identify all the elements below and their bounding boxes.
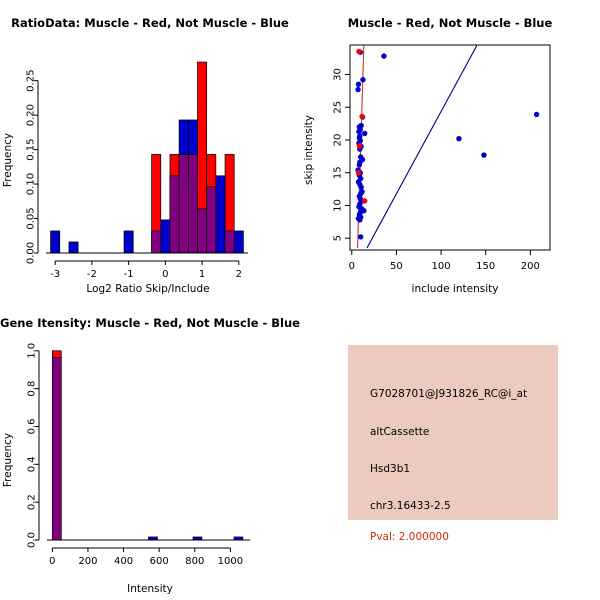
x-tick-label: 100 xyxy=(432,261,451,272)
histogram-bar-overlap xyxy=(225,231,234,253)
histogram-bar-not-muscle xyxy=(161,220,170,253)
y-tick-label: 0.6 xyxy=(27,419,38,435)
x-tick-label: 50 xyxy=(390,261,403,272)
histogram-bar-not-muscle xyxy=(69,242,78,253)
panel-scatter: Muscle - Red, Not Muscle - Blue 05010015… xyxy=(300,0,600,300)
x-tick-label: -2 xyxy=(87,269,97,280)
x-tick-label: 1000 xyxy=(218,556,243,567)
scatter-point xyxy=(357,162,362,167)
panel-info: G7028701@J931826_RC@i_at altCassette Hsd… xyxy=(300,300,600,600)
y-tick-label: 15 xyxy=(333,166,344,179)
scatter-point xyxy=(360,77,365,82)
scatter-xlabel: include intensity xyxy=(412,283,499,295)
histogram-bar-overlap xyxy=(170,176,179,253)
y-tick-label: 0.00 xyxy=(26,242,37,264)
info-locus: chr3.16433-2.5 xyxy=(370,500,451,512)
scatter-point xyxy=(362,131,367,136)
y-tick-label: 10 xyxy=(333,199,344,212)
y-tick-label: 0.8 xyxy=(27,381,38,397)
scatter-point xyxy=(357,217,362,222)
y-tick-label: 20 xyxy=(333,134,344,147)
x-tick-label: 400 xyxy=(114,556,133,567)
scatter-point xyxy=(456,136,461,141)
y-tick-label: 0.4 xyxy=(27,456,38,472)
y-tick-label: 5 xyxy=(333,235,344,241)
info-probe-id: G7028701@J931826_RC@i_at xyxy=(370,388,527,400)
histogram-bar-overlap xyxy=(52,357,61,540)
x-tick-label: 150 xyxy=(476,261,495,272)
scatter-point xyxy=(534,112,539,117)
gene-histogram-bars xyxy=(52,351,243,540)
histogram-bar-overlap xyxy=(207,187,216,253)
y-tick-label: 0.05 xyxy=(26,207,37,229)
scatter-point xyxy=(358,234,363,239)
y-tick-label: 25 xyxy=(333,101,344,114)
histogram-bar-not-muscle xyxy=(188,120,197,154)
scatter-point xyxy=(357,143,362,148)
scatter-point xyxy=(356,170,361,175)
gene-histogram-plot: 0.00.20.40.60.81.002004006008001000 Inte… xyxy=(0,300,300,600)
gene-xlabel: Intensity xyxy=(127,583,173,595)
y-tick-label: 0.2 xyxy=(27,494,38,510)
info-event-type: altCassette xyxy=(370,426,429,438)
scatter-point xyxy=(356,49,361,54)
histogram-bar-overlap xyxy=(152,231,161,253)
plot-frame xyxy=(350,45,550,250)
scatter-trend-lines xyxy=(358,46,477,248)
ratio-histogram-plot: 0.000.050.100.150.200.25-3-2-1012 Log2 R… xyxy=(0,0,300,300)
y-tick-label: 0.10 xyxy=(26,173,37,195)
panel-gene-histogram: Gene Itensity: Muscle - Red, Not Muscle … xyxy=(0,300,300,600)
y-tick-label: 0.25 xyxy=(26,70,37,92)
x-tick-label: 200 xyxy=(78,556,97,567)
x-tick-label: 2 xyxy=(236,269,242,280)
scatter-frame xyxy=(350,45,550,250)
scatter-point xyxy=(359,114,364,119)
histogram-bar-overlap xyxy=(188,154,197,253)
ratio-histogram-bars xyxy=(51,62,244,253)
scatter-point xyxy=(381,53,386,58)
ratio-ylabel: Frequency xyxy=(2,133,14,187)
x-tick-label: 0 xyxy=(162,269,168,280)
ratio-xlabel: Log2 Ratio Skip/Include xyxy=(86,283,209,295)
scatter-data-points xyxy=(355,49,539,240)
histogram-bar-overlap xyxy=(179,154,188,253)
panel-ratio-histogram: RatioData: Muscle - Red, Not Muscle - Bl… xyxy=(0,0,300,300)
y-tick-label: 1.0 xyxy=(27,343,38,359)
histogram-bar-not-muscle xyxy=(51,231,60,253)
x-tick-label: 0 xyxy=(49,556,55,567)
y-tick-label: 0.15 xyxy=(26,138,37,160)
info-box: G7028701@J931826_RC@i_at altCassette Hsd… xyxy=(348,345,558,520)
scatter-point xyxy=(358,184,363,189)
histogram-bar-overlap xyxy=(198,209,207,253)
scatter-point xyxy=(356,129,361,134)
x-tick-label: 200 xyxy=(521,261,540,272)
gene-ylabel: Frequency xyxy=(2,433,14,487)
scatter-axes: 05010015020051015202530 xyxy=(333,68,540,272)
histogram-bar-not-muscle xyxy=(216,176,225,253)
y-tick-label: 0.20 xyxy=(26,104,37,126)
histogram-bar-not-muscle xyxy=(179,120,188,154)
scatter-point xyxy=(356,82,361,87)
info-gene-symbol: Hsd3b1 xyxy=(370,463,410,475)
x-tick-label: 800 xyxy=(185,556,204,567)
scatter-point xyxy=(481,152,486,157)
info-pval: Pval: 2.000000 xyxy=(370,531,449,543)
scatter-plot: 05010015020051015202530 include intensit… xyxy=(300,0,600,300)
x-tick-label: -1 xyxy=(124,269,134,280)
histogram-bar-not-muscle xyxy=(234,231,243,253)
x-tick-label: -3 xyxy=(50,269,60,280)
x-tick-label: 600 xyxy=(150,556,169,567)
x-tick-label: 1 xyxy=(199,269,205,280)
blue-diagonal-line xyxy=(367,46,477,248)
x-tick-label: 0 xyxy=(349,261,355,272)
y-tick-label: 30 xyxy=(333,68,344,81)
histogram-bar-not-muscle xyxy=(124,231,133,253)
scatter-point xyxy=(355,87,360,92)
scatter-ylabel: skip intensity xyxy=(303,115,315,185)
scatter-point xyxy=(362,198,367,203)
y-tick-label: 0.0 xyxy=(27,532,38,548)
